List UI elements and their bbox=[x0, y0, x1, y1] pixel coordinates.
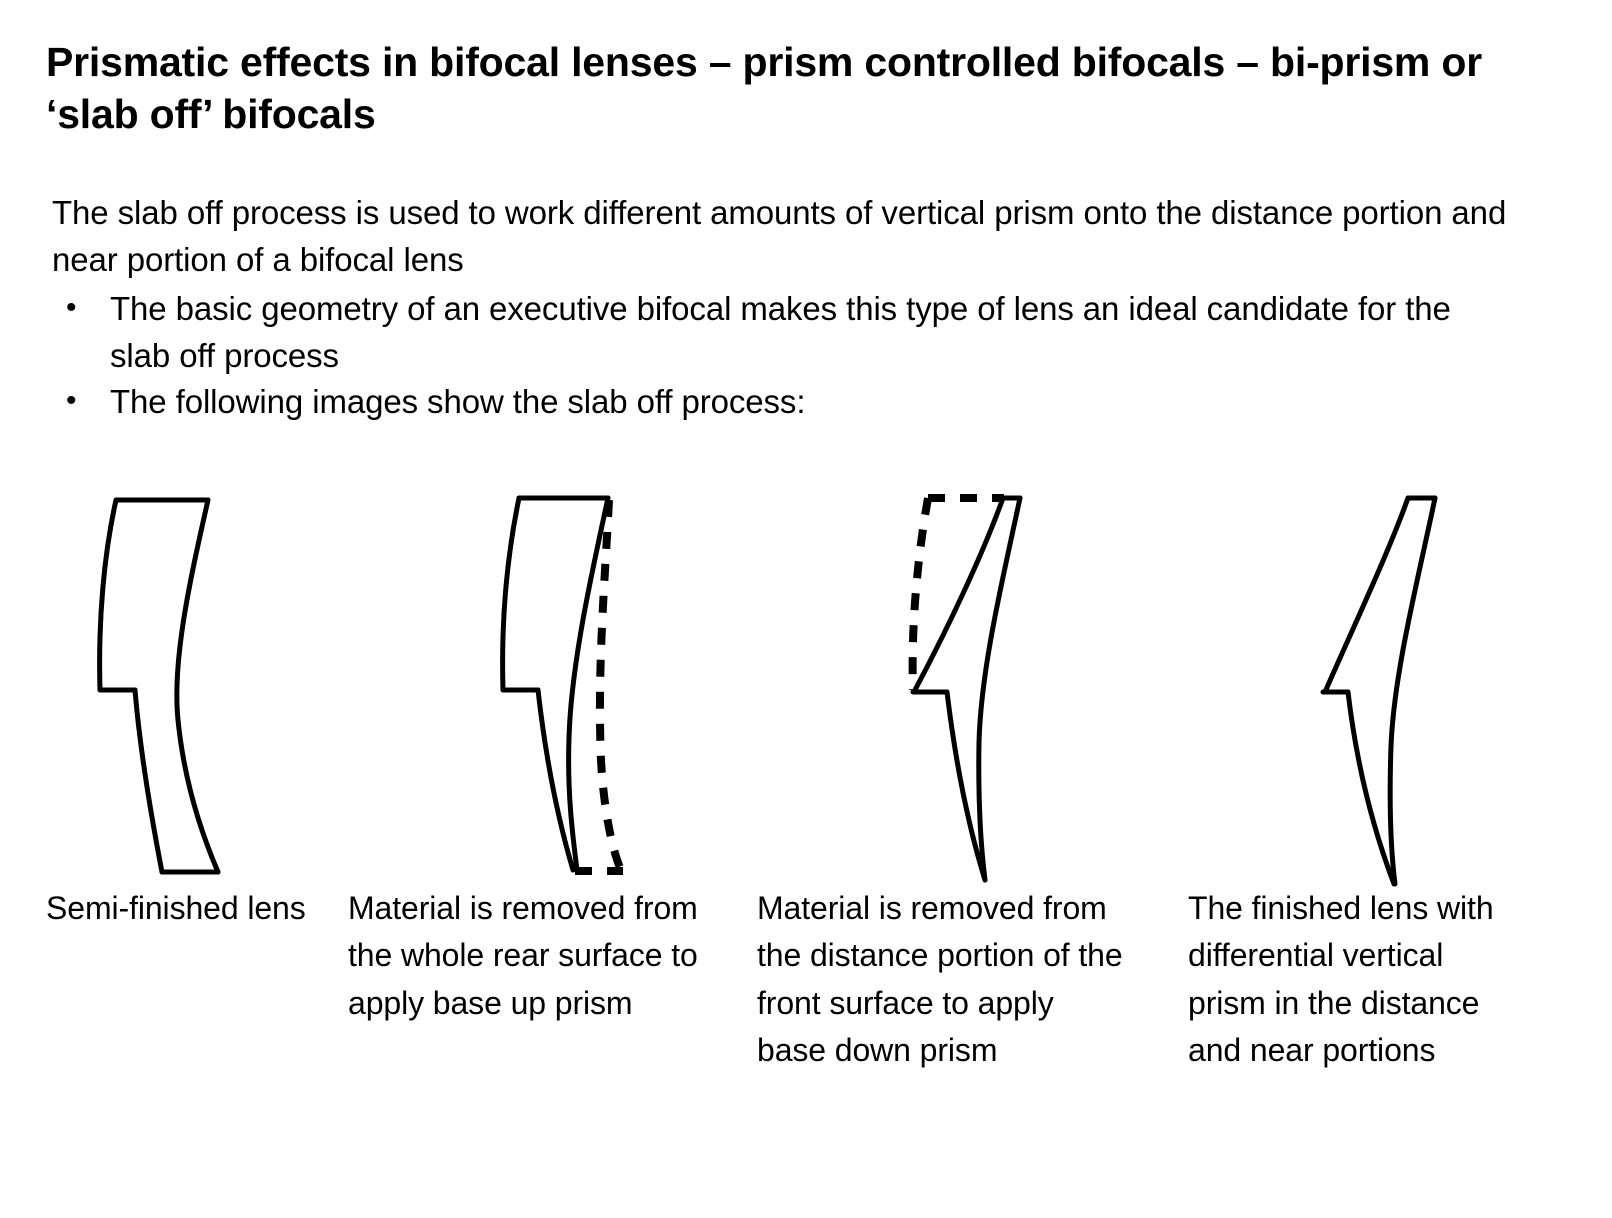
lens-near-front-surface-outline bbox=[1348, 692, 1394, 884]
lead-paragraph: The slab off process is used to work dif… bbox=[52, 190, 1542, 284]
bullet-list: • The basic geometry of an executive bif… bbox=[52, 286, 1542, 427]
bullet-marker-icon: • bbox=[52, 286, 110, 330]
lens-rear-surface-outline bbox=[177, 500, 218, 872]
semi-finished-lens-svg bbox=[0, 470, 420, 890]
rear-surface-removed-lens-svg bbox=[405, 470, 825, 890]
rear-surface-removed-lens-diagram bbox=[405, 470, 825, 890]
semi-finished-lens-diagram bbox=[0, 470, 420, 890]
figure-caption-rear-surface-removed: Material is removed from the whole rear … bbox=[348, 885, 728, 1027]
figure-caption-semi-finished-lens: Semi-finished lens bbox=[46, 885, 346, 932]
lens-diagram-row bbox=[0, 470, 1612, 890]
bullet-marker-icon: • bbox=[52, 379, 110, 423]
list-item: • The basic geometry of an executive bif… bbox=[52, 286, 1542, 380]
page-title: Prismatic effects in bifocal lenses – pr… bbox=[46, 36, 1506, 141]
lens-rear-surface-outline bbox=[1390, 498, 1435, 884]
bullet-text: The following images show the slab off p… bbox=[110, 379, 1500, 426]
lens-front-surface-outline bbox=[1325, 498, 1408, 692]
removed-front-surface-dashed-outline bbox=[913, 498, 928, 690]
figure-caption-front-distance-portion-removed: Material is removed from the distance po… bbox=[757, 885, 1127, 1074]
lens-new-rear-surface-outline bbox=[569, 498, 608, 870]
finished-slab-off-lens-diagram bbox=[1192, 470, 1612, 890]
removed-rear-surface-dashed-outline bbox=[600, 500, 621, 870]
front-distance-portion-removed-lens-diagram bbox=[815, 470, 1235, 890]
figure-caption-finished-lens: The finished lens with differential vert… bbox=[1188, 885, 1528, 1074]
body-content: The slab off process is used to work dif… bbox=[52, 190, 1542, 426]
finished-slab-off-lens-svg bbox=[1192, 470, 1612, 890]
front-distance-portion-removed-lens-svg bbox=[815, 470, 1235, 890]
lens-new-front-surface-outline bbox=[915, 498, 1003, 690]
list-item: • The following images show the slab off… bbox=[52, 379, 1542, 426]
lens-rear-surface-outline bbox=[979, 498, 1020, 880]
bullet-text: The basic geometry of an executive bifoc… bbox=[110, 286, 1500, 380]
caption-row: Semi-finished lens Material is removed f… bbox=[0, 885, 1612, 1185]
lens-front-surface-outline bbox=[503, 498, 573, 870]
lens-front-surface-outline bbox=[100, 500, 162, 872]
